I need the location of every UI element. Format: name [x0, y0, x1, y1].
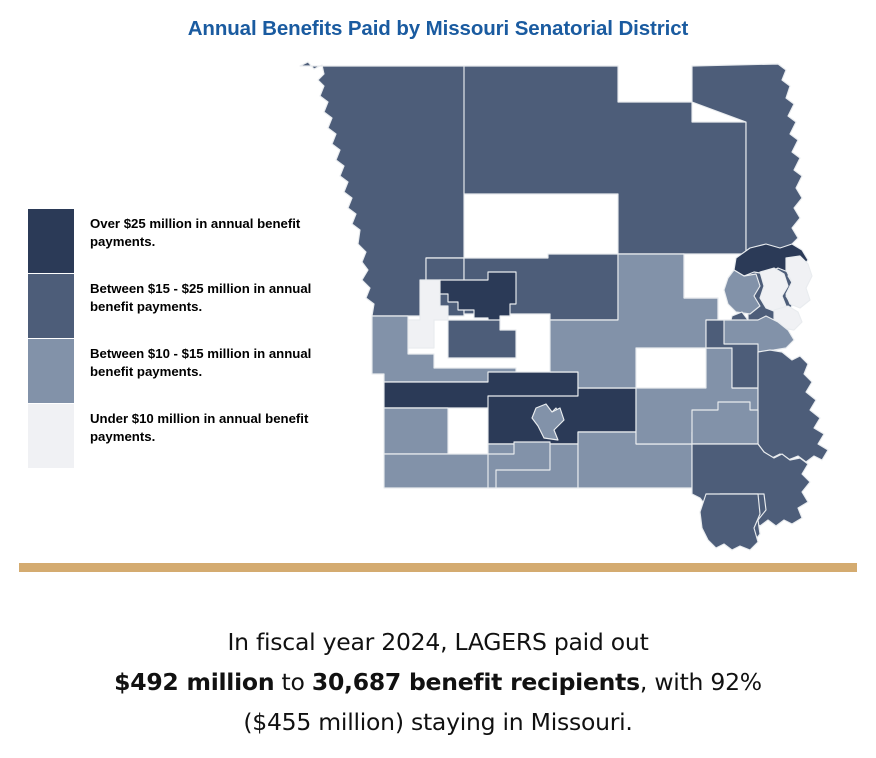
district-jackson-county-south[interactable]	[448, 320, 516, 358]
legend-item-over-25m[interactable]: Over $25 million in annual benefit payme…	[28, 209, 318, 274]
map-legend: Over $25 million in annual benefit payme…	[28, 209, 318, 469]
page-title: Annual Benefits Paid by Missouri Senator…	[0, 17, 876, 41]
gold-divider-bar	[19, 563, 857, 572]
legend-item-15-25m[interactable]: Between $15 - $25 million in annual bene…	[28, 274, 318, 339]
footer-statement: In fiscal year 2024, LAGERS paid out $49…	[0, 622, 876, 742]
footer-percent-clause: , with 92%	[640, 668, 762, 696]
footer-connector-to: to	[274, 668, 312, 696]
legend-item-under-10m[interactable]: Under $10 million in annual benefit paym…	[28, 404, 318, 469]
district-st-louis-city[interactable]	[760, 268, 788, 312]
footer-line-1: In fiscal year 2024, LAGERS paid out	[0, 622, 876, 662]
legend-swatch-over-25m	[28, 209, 74, 273]
legend-label-10-15m: Between $10 - $15 million in annual bene…	[90, 345, 318, 380]
footer-total-paid: $492 million	[114, 668, 274, 696]
map-svg	[288, 58, 860, 554]
legend-label-15-25m: Between $15 - $25 million in annual bene…	[90, 280, 318, 315]
legend-label-under-10m: Under $10 million in annual benefit paym…	[90, 410, 318, 445]
district-southeast-missouri[interactable]	[758, 350, 828, 462]
legend-swatch-15-25m	[28, 274, 74, 338]
missouri-choropleth-map	[288, 58, 860, 554]
legend-label-over-25m: Over $25 million in annual benefit payme…	[90, 215, 318, 250]
district-bootheel-tip[interactable]	[700, 494, 760, 550]
footer-recipient-count: 30,687 benefit recipients	[312, 668, 640, 696]
district-southwest-missouri[interactable]	[384, 408, 448, 454]
legend-swatch-10-15m	[28, 339, 74, 403]
footer-line-3: ($455 million) staying in Missouri.	[0, 702, 876, 742]
legend-item-10-15m[interactable]: Between $10 - $15 million in annual bene…	[28, 339, 318, 404]
district-st-louis-north[interactable]	[724, 270, 760, 314]
legend-swatch-under-10m	[28, 404, 74, 468]
footer-line-2: $492 million to 30,687 benefit recipient…	[0, 662, 876, 702]
district-jackson-county-north[interactable]	[440, 272, 516, 326]
